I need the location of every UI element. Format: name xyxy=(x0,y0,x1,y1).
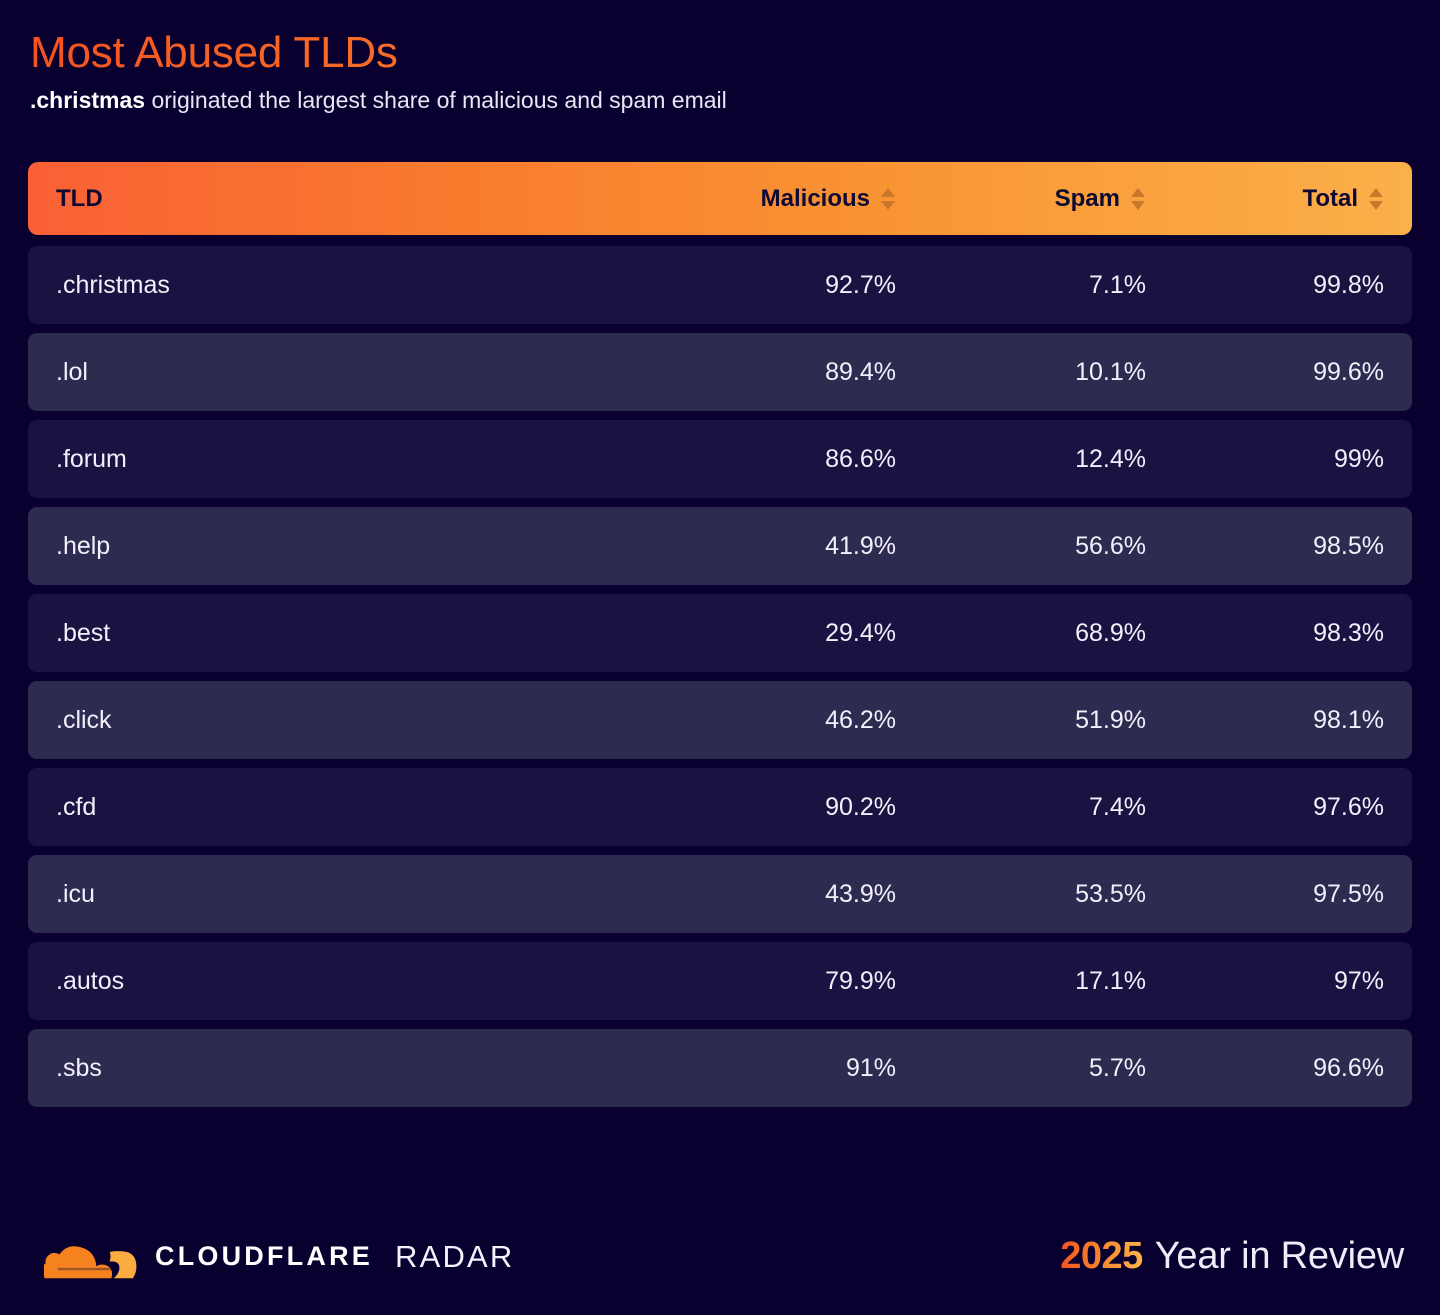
cell-tld: .best xyxy=(56,619,616,648)
cell-total: 97.5% xyxy=(1146,880,1384,909)
cloudflare-radar-brand: CLOUDFLARE RADAR xyxy=(44,1233,515,1279)
cell-malicious: 29.4% xyxy=(616,619,896,648)
page-subtitle: .christmas originated the largest share … xyxy=(30,87,1410,115)
cell-spam: 7.4% xyxy=(896,793,1146,822)
cell-total: 99.8% xyxy=(1146,271,1384,300)
table-row[interactable]: .help41.9%56.6%98.5% xyxy=(28,507,1412,585)
cell-tld: .sbs xyxy=(56,1054,616,1083)
header: Most Abused TLDs .christmas originated t… xyxy=(30,28,1410,115)
column-header-tld[interactable]: TLD xyxy=(56,185,616,213)
cell-malicious: 86.6% xyxy=(616,445,896,474)
table-body: .christmas92.7%7.1%99.8%.lol89.4%10.1%99… xyxy=(28,246,1412,1107)
year-in-review-text: Year in Review xyxy=(1155,1235,1404,1278)
cell-tld: .forum xyxy=(56,445,616,474)
cell-tld: .click xyxy=(56,706,616,735)
table-row[interactable]: .autos79.9%17.1%97% xyxy=(28,942,1412,1020)
table-row[interactable]: .sbs91%5.7%96.6% xyxy=(28,1029,1412,1107)
cell-malicious: 92.7% xyxy=(616,271,896,300)
cell-spam: 51.9% xyxy=(896,706,1146,735)
cell-spam: 5.7% xyxy=(896,1054,1146,1083)
column-header-tld-label: TLD xyxy=(56,185,103,213)
cloudflare-wordmark: CLOUDFLARE xyxy=(155,1243,373,1270)
table-row[interactable]: .icu43.9%53.5%97.5% xyxy=(28,855,1412,933)
subtitle-text: originated the largest share of maliciou… xyxy=(145,87,727,113)
cell-tld: .lol xyxy=(56,358,616,387)
cell-spam: 12.4% xyxy=(896,445,1146,474)
cell-malicious: 90.2% xyxy=(616,793,896,822)
sort-updown-icon[interactable] xyxy=(881,188,896,210)
cell-spam: 10.1% xyxy=(896,358,1146,387)
cell-malicious: 91% xyxy=(616,1054,896,1083)
column-header-total-label: Total xyxy=(1302,185,1358,213)
cell-spam: 56.6% xyxy=(896,532,1146,561)
year-in-review-card: Most Abused TLDs .christmas originated t… xyxy=(0,0,1440,1315)
year-value: 2025 xyxy=(1060,1235,1143,1278)
cell-total: 99% xyxy=(1146,445,1384,474)
cell-tld: .christmas xyxy=(56,271,616,300)
cloudflare-cloud-icon xyxy=(44,1233,140,1279)
cell-malicious: 79.9% xyxy=(616,967,896,996)
table-row[interactable]: .forum86.6%12.4%99% xyxy=(28,420,1412,498)
subtitle-highlight: .christmas xyxy=(30,87,145,113)
sort-updown-icon[interactable] xyxy=(1131,188,1146,210)
table-header-row: TLD Malicious Spam Total xyxy=(28,162,1412,235)
table-row[interactable]: .best29.4%68.9%98.3% xyxy=(28,594,1412,672)
column-header-spam-label: Spam xyxy=(1055,185,1120,213)
cell-spam: 68.9% xyxy=(896,619,1146,648)
column-header-total[interactable]: Total xyxy=(1146,185,1384,213)
cell-total: 98.1% xyxy=(1146,706,1384,735)
table-row[interactable]: .christmas92.7%7.1%99.8% xyxy=(28,246,1412,324)
cell-malicious: 43.9% xyxy=(616,880,896,909)
cell-total: 97.6% xyxy=(1146,793,1384,822)
cell-total: 97% xyxy=(1146,967,1384,996)
sort-updown-icon[interactable] xyxy=(1369,188,1384,210)
column-header-malicious[interactable]: Malicious xyxy=(616,185,896,213)
cell-malicious: 41.9% xyxy=(616,532,896,561)
year-in-review-label: 2025 Year in Review xyxy=(1060,1235,1404,1278)
page-title: Most Abused TLDs xyxy=(30,28,1410,77)
cell-tld: .cfd xyxy=(56,793,616,822)
cell-tld: .icu xyxy=(56,880,616,909)
column-header-malicious-label: Malicious xyxy=(761,185,870,213)
table-row[interactable]: .cfd90.2%7.4%97.6% xyxy=(28,768,1412,846)
cell-total: 98.5% xyxy=(1146,532,1384,561)
cell-malicious: 46.2% xyxy=(616,706,896,735)
cell-spam: 53.5% xyxy=(896,880,1146,909)
cell-total: 99.6% xyxy=(1146,358,1384,387)
cell-total: 96.6% xyxy=(1146,1054,1384,1083)
cell-tld: .autos xyxy=(56,967,616,996)
footer: CLOUDFLARE RADAR 2025 Year in Review xyxy=(0,1197,1440,1315)
cell-total: 98.3% xyxy=(1146,619,1384,648)
cell-malicious: 89.4% xyxy=(616,358,896,387)
radar-wordmark: RADAR xyxy=(395,1241,515,1272)
cell-tld: .help xyxy=(56,532,616,561)
column-header-spam[interactable]: Spam xyxy=(896,185,1146,213)
cell-spam: 7.1% xyxy=(896,271,1146,300)
tld-abuse-table: TLD Malicious Spam Total .christmas92.7%… xyxy=(28,162,1412,1116)
table-row[interactable]: .click46.2%51.9%98.1% xyxy=(28,681,1412,759)
table-row[interactable]: .lol89.4%10.1%99.6% xyxy=(28,333,1412,411)
cell-spam: 17.1% xyxy=(896,967,1146,996)
